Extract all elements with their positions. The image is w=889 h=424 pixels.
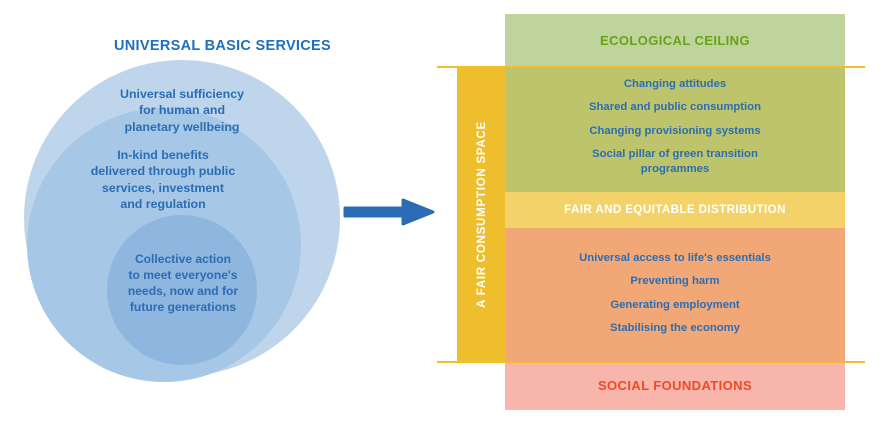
diagram-canvas: UNIVERSAL BASIC SERVICES Universal suffi… (0, 0, 889, 424)
list-item: Preventing harm (505, 274, 845, 288)
list-item: Universal access to life's essentials (505, 251, 845, 265)
list-item: Stabilising the economy (505, 321, 845, 335)
list-item: Changing provisioning systems (505, 124, 845, 138)
fair-consumption-space-panel: A FAIR CONSUMPTION SPACE ECOLOGICAL CEIL… (0, 0, 889, 424)
list-item: Changing attitudes (505, 77, 845, 91)
fair-and-equitable-distribution-title: FAIR AND EQUITABLE DISTRIBUTION (505, 203, 845, 216)
ecological-ceiling-action-list: Changing attitudesShared and public cons… (505, 77, 845, 176)
list-item: Social pillar of green transition progra… (505, 147, 845, 176)
list-item: Generating employment (505, 298, 845, 312)
social-foundations-action-list: Universal access to life's essentialsPre… (505, 251, 845, 336)
social-foundations-title: SOCIAL FOUNDATIONS (505, 378, 845, 393)
consumption-space-bar (457, 67, 505, 362)
ecological-ceiling-title: ECOLOGICAL CEILING (505, 33, 845, 48)
list-item: Shared and public consumption (505, 100, 845, 114)
